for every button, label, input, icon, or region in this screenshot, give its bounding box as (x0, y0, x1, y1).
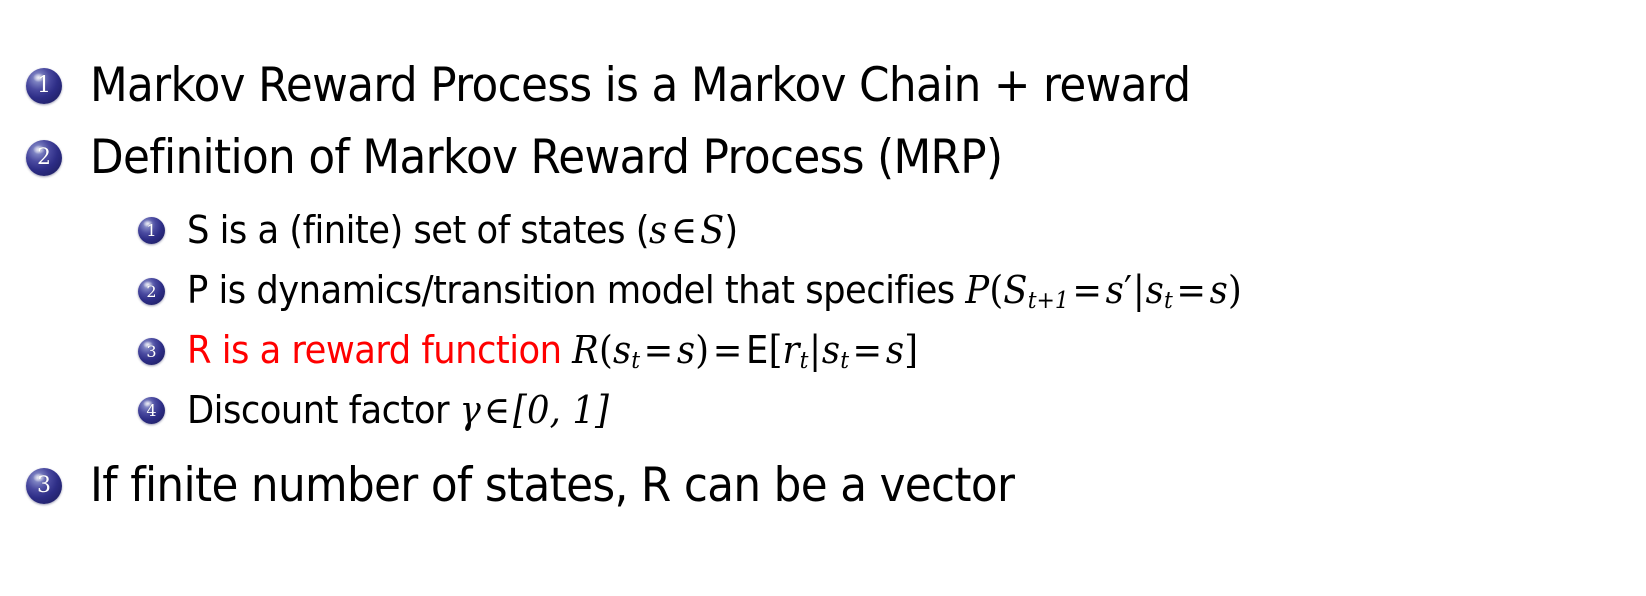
bullet-number: 3 (26, 468, 62, 504)
math-transition-formula: P(St+1=s′|st=s) (965, 268, 1242, 312)
sublist-item-3: 3 R is a reward function R(st=s)=E[rt|st… (138, 328, 973, 374)
sublist-item-2-text: P is dynamics/transition model that spec… (187, 268, 1242, 314)
math-bracket-close: ] (904, 328, 918, 372)
math-subscript-t-plus-1: t+1 (1028, 286, 1069, 314)
slide-canvas: 1 Markov Reward Process is a Markov Chai… (0, 0, 1646, 596)
highlighted-text-run: R is a reward function (187, 328, 572, 372)
text-run: Discount factor (187, 388, 460, 432)
math-subscript-t: t (1164, 286, 1173, 314)
bullet-marker-wrap: 1 (26, 68, 62, 104)
bullet-marker-wrap: 1 (138, 217, 165, 244)
list-item-1-text: Markov Reward Process is a Markov Chain … (90, 58, 1191, 113)
math-subscript-t-3: t (840, 346, 849, 374)
text-run-close: ) (724, 208, 737, 252)
math-paren-open: ( (989, 268, 1003, 312)
math-P: P (965, 268, 989, 312)
math-gamma-symbol: γ (460, 388, 481, 432)
bullet-marker-wrap: 3 (138, 338, 165, 365)
math-subscript-t-2: t (800, 346, 809, 374)
bullet-number: 1 (138, 217, 165, 244)
enumerate-ball-icon: 3 (26, 468, 62, 504)
math-s-value: s (1210, 268, 1228, 312)
math-equals-2: = (1173, 268, 1210, 312)
math-s-1: s (613, 328, 631, 372)
math-s-2: s (677, 328, 695, 372)
math-conditional-bar: | (808, 328, 821, 372)
math-bracket-open: [ (769, 328, 783, 372)
text-run: S is a (finite) set of states ( (187, 208, 649, 252)
sublist-item-4: 4 Discount factor γ∈[0, 1] (138, 388, 641, 432)
math-s-3: s (822, 328, 840, 372)
bullet-number: 1 (26, 68, 62, 104)
sublist-item-1-text: S is a (finite) set of states (s∈S) (187, 208, 738, 252)
math-r: r (783, 328, 800, 372)
math-interval: [0, 1] (513, 388, 609, 432)
enumerate-ball-icon: 1 (26, 68, 62, 104)
math-expectation-symbol: E (746, 328, 769, 372)
list-item-3: 3 If finite number of states, R can be a… (26, 458, 1084, 513)
math-element-of: ∈ (667, 208, 700, 252)
bullet-number: 3 (138, 338, 165, 365)
bullet-marker-wrap: 2 (26, 140, 62, 176)
bullet-marker-wrap: 4 (138, 397, 165, 424)
math-equals-1: = (640, 328, 677, 372)
bullet-marker-wrap: 2 (138, 278, 165, 305)
math-equals-3: = (849, 328, 886, 372)
enumerate-ball-icon: 3 (138, 338, 165, 365)
sublist-item-4-text: Discount factor γ∈[0, 1] (187, 388, 609, 432)
math-equals-1: = (1069, 268, 1106, 312)
bullet-number: 2 (26, 140, 62, 176)
sublist-item-1: 1 S is a (finite) set of states (s∈S) (138, 208, 779, 252)
math-s-4: s (886, 328, 904, 372)
list-item-2: 2 Definition of Markov Reward Process (M… (26, 130, 1071, 185)
math-reward-formula: R(st=s)=E[rt|st=s] (572, 328, 918, 372)
bullet-number: 2 (138, 278, 165, 305)
math-R: R (572, 328, 599, 372)
math-element-of: ∈ (480, 388, 513, 432)
math-s-prime: s (1106, 268, 1124, 312)
list-item-1: 1 Markov Reward Process is a Markov Chai… (26, 58, 1273, 113)
text-run: P is dynamics/transition model that spec… (187, 268, 965, 312)
math-S-capital: S (1003, 268, 1027, 312)
sublist-item-3-text: R is a reward function R(st=s)=E[rt|st=s… (187, 328, 918, 374)
math-S-set: S (700, 208, 724, 252)
math-s-lower: s (1146, 268, 1164, 312)
bullet-number: 4 (138, 397, 165, 424)
enumerate-ball-icon: 1 (138, 217, 165, 244)
math-s: s (649, 208, 667, 252)
list-item-2-text: Definition of Markov Reward Process (MRP… (90, 130, 1002, 185)
bullet-marker-wrap: 3 (26, 468, 62, 504)
list-item-3-text: If finite number of states, R can be a v… (90, 458, 1014, 513)
math-paren-open: ( (599, 328, 613, 372)
math-paren-close: ) (1228, 268, 1242, 312)
math-subscript-t-1: t (631, 346, 640, 374)
enumerate-ball-icon: 2 (138, 278, 165, 305)
enumerate-ball-icon: 4 (138, 397, 165, 424)
math-conditional-bar: | (1132, 268, 1145, 312)
sublist-item-2: 2 P is dynamics/transition model that sp… (138, 268, 1321, 314)
math-equals-2: = (709, 328, 746, 372)
enumerate-ball-icon: 2 (26, 140, 62, 176)
math-paren-close: ) (695, 328, 709, 372)
